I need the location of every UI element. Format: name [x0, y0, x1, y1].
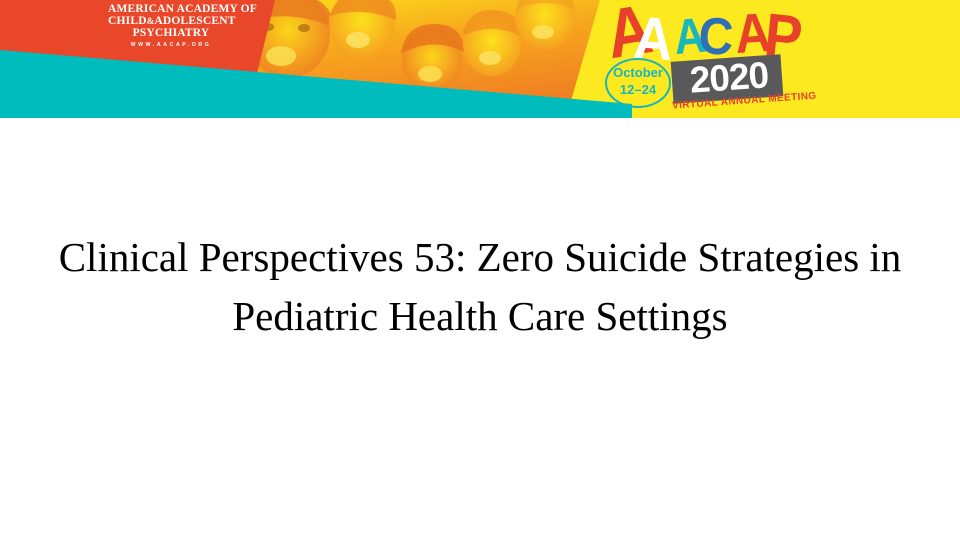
aacap-2020-meeting-logo: A A A C A P 2020 VIRTUAL ANNUAL MEETING …	[600, 0, 820, 118]
slide-canvas: AMERICAN ACADEMY OF CHILD&ADOLESCENT PSY…	[0, 0, 960, 540]
page-title: Clinical Perspectives 53: Zero Suicide S…	[48, 228, 912, 346]
meeting-dates: October 12–24	[605, 64, 671, 98]
meeting-date-month: October	[605, 64, 671, 81]
title-block: Clinical Perspectives 53: Zero Suicide S…	[48, 228, 912, 346]
meeting-date-days: 12–24	[605, 81, 671, 98]
aacap-header-banner: AMERICAN ACADEMY OF CHILD&ADOLESCENT PSY…	[0, 0, 960, 118]
